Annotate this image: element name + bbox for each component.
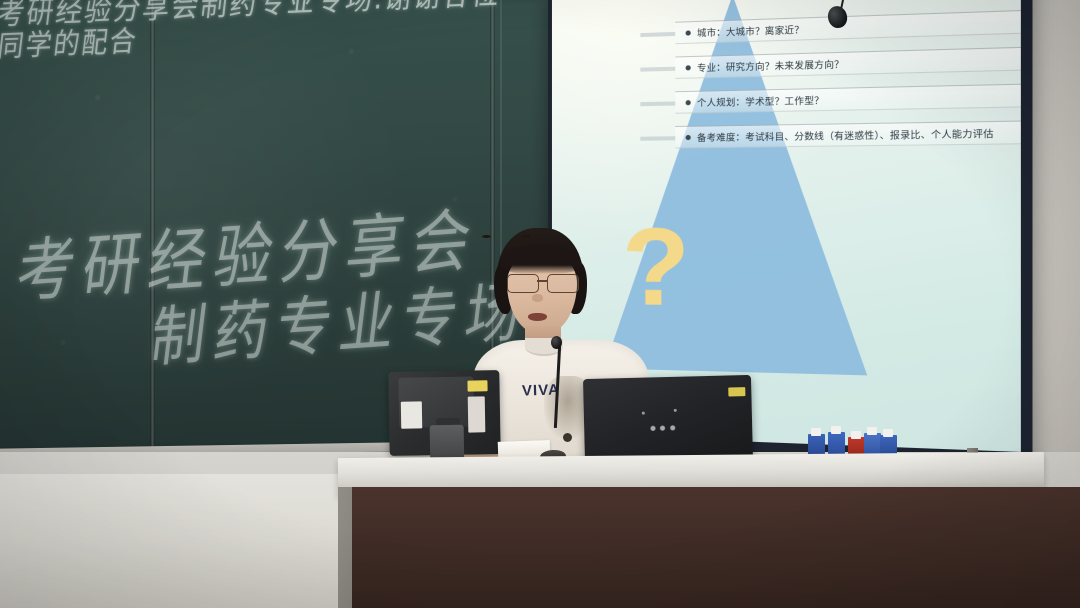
- eye-right: [522, 235, 531, 238]
- slide-bullet-text: 个人规划：学术型？工作型？: [697, 93, 824, 109]
- monitor-asset-label: [401, 401, 422, 428]
- monitor-brand-logo: [646, 425, 680, 432]
- chalk-headline-line-1: 考研经验分享会: [12, 184, 485, 316]
- lens-right: [547, 274, 579, 293]
- slide-bullet-text: 备考难度：考试科目、分数线（有迷惑性）、报录比、个人能力评估: [697, 126, 994, 144]
- monitor-screw: [674, 409, 677, 412]
- eye-left: [482, 235, 491, 238]
- marker-cap: [851, 431, 861, 439]
- slide-bullet-text: 城市：大城市？离家近？: [697, 22, 804, 39]
- bullet-dot-icon: [686, 100, 691, 105]
- bullet-dot-icon: [686, 30, 691, 35]
- marker-blue[interactable]: [828, 432, 845, 456]
- tshirt-text: VIVA: [522, 381, 560, 399]
- podium-front-panel: 福 FUZHOU·UNIVERSITY: [352, 487, 1080, 608]
- monitor-warning-label: [728, 387, 745, 396]
- marker-cap: [883, 429, 893, 437]
- bullet-connector: [640, 67, 675, 72]
- monitor-warning-label: [467, 380, 487, 391]
- lens-left: [507, 274, 539, 293]
- slide-bullet-item: 专业：研究方向？未来发展方向？: [675, 47, 1021, 79]
- marker-cap: [831, 426, 841, 434]
- lower-whiteboard-panel: [0, 474, 346, 608]
- nose: [532, 294, 543, 302]
- classroom-photo: 考研经验分享会制药专业专场.谢谢各位 同学的配合 考研经验分享会 制药专业专场 …: [0, 0, 1080, 608]
- marker-set[interactable]: [808, 430, 890, 456]
- slide-bullet-item: 个人规划：学术型？工作型？: [675, 84, 1021, 114]
- slide-bullet-list: 城市：大城市？离家近？ 专业：研究方向？未来发展方向？ 个人规划：学术型？工作型…: [675, 10, 1021, 161]
- chalk-note-line-2: 同学的配合: [0, 18, 140, 65]
- microphone-icon: [551, 336, 562, 349]
- monitor-spec-label: [468, 396, 486, 432]
- blackboard-seam-left: [150, 0, 155, 458]
- monitor-screw: [642, 412, 645, 415]
- marker-blue[interactable]: [808, 434, 825, 456]
- slide-bullet-item: 备考难度：考试科目、分数线（有迷惑性）、报录比、个人能力评估: [675, 120, 1021, 148]
- bullet-connector: [640, 101, 675, 106]
- eyeglasses: [506, 274, 578, 291]
- slide-bullet-text: 专业：研究方向？未来发展方向？: [697, 56, 844, 73]
- bullet-connector: [640, 136, 675, 141]
- marker-cap: [811, 428, 821, 436]
- bullet-dot-icon: [686, 65, 691, 70]
- monitor-right: [583, 375, 753, 465]
- mouth: [528, 313, 547, 321]
- glasses-bridge: [537, 280, 547, 282]
- marker-cap: [867, 427, 877, 435]
- chalk-note-line-1: 考研经验分享会制药专业专场.谢谢各位: [0, 0, 504, 33]
- tshirt-emblem-dot: [563, 433, 572, 442]
- bullet-dot-icon: [686, 134, 691, 139]
